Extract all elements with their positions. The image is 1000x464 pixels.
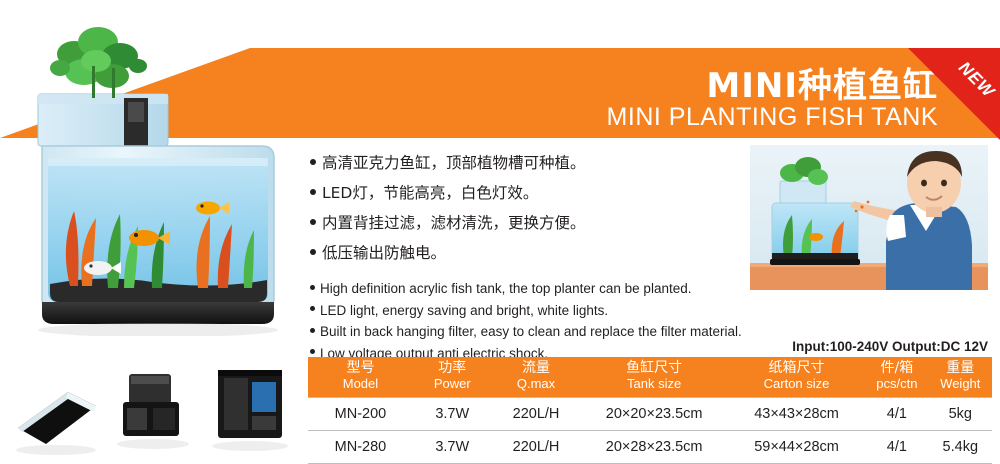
header-flow-cn: 流量 xyxy=(494,360,579,376)
header-weight: 重量 Weight xyxy=(929,357,992,398)
header-model-en: Model xyxy=(310,376,411,392)
header-carton-size-en: Carton size xyxy=(730,376,863,392)
header-model: 型号 Model xyxy=(308,357,413,398)
page-title-en: MINI PLANTING FISH TANK xyxy=(607,103,938,132)
feature-list: 高清亚克力鱼缸，顶部植物槽可种植。 LED灯，节能高亮，白色灯效。 内置背挂过滤… xyxy=(310,148,710,364)
bullet-icon xyxy=(310,285,315,290)
bullet-icon xyxy=(310,328,315,333)
table-body: MN-200 3.7W 220L/H 20×20×23.5cm 43×43×28… xyxy=(308,398,992,464)
table-row: MN-280 3.7W 220L/H 20×28×23.5cm 59×44×28… xyxy=(308,431,992,464)
bullet-icon xyxy=(310,189,316,195)
bullet-icon xyxy=(310,306,315,311)
header-weight-en: Weight xyxy=(931,376,990,392)
header-tank-size: 鱼缸尺寸 Tank size xyxy=(580,357,728,398)
cell-weight: 5kg xyxy=(929,398,992,431)
feature-cn-3-text: 内置背挂过滤，滤材清洗，更换方便。 xyxy=(322,214,586,232)
feature-en-1-text: High definition acrylic fish tank, the t… xyxy=(320,281,691,296)
table-header: 型号 Model 功率 Power 流量 Q.max 鱼缸尺寸 Tank siz… xyxy=(308,357,992,398)
header-pcs-ctn-cn: 件/箱 xyxy=(867,360,926,376)
header-flow-en: Q.max xyxy=(494,376,579,392)
feature-cn-4: 低压输出防触电。 xyxy=(310,238,710,268)
feature-en-2-text: LED light, energy saving and bright, whi… xyxy=(320,303,608,318)
feature-cn-2: LED灯，节能高亮，白色灯效。 xyxy=(310,178,710,208)
specification-table: 型号 Model 功率 Power 流量 Q.max 鱼缸尺寸 Tank siz… xyxy=(308,357,992,464)
feature-cn-4-text: 低压输出防触电。 xyxy=(322,244,446,262)
feature-cn-1-text: 高清亚克力鱼缸，顶部植物槽可种植。 xyxy=(322,154,586,172)
feature-en-3: Built in back hanging filter, easy to cl… xyxy=(310,321,710,343)
new-ribbon: NEW xyxy=(908,48,1000,140)
accessory-thumbnails xyxy=(6,358,306,458)
cell-model: MN-280 xyxy=(308,431,413,464)
header-power: 功率 Power xyxy=(413,357,492,398)
page-title-cn: MINI种植鱼缸 xyxy=(706,58,938,107)
main-fish-tank-photo xyxy=(12,6,302,336)
cell-power: 3.7W xyxy=(413,398,492,431)
cell-power: 3.7W xyxy=(413,431,492,464)
cell-model: MN-200 xyxy=(308,398,413,431)
cell-pcs-ctn: 4/1 xyxy=(865,398,928,431)
header-tank-size-en: Tank size xyxy=(582,376,726,392)
header-power-cn: 功率 xyxy=(415,360,490,376)
header-weight-cn: 重量 xyxy=(931,360,990,376)
header-carton-size-cn: 纸箱尺寸 xyxy=(730,360,863,376)
table-row: MN-200 3.7W 220L/H 20×20×23.5cm 43×43×28… xyxy=(308,398,992,431)
cell-tank-size: 20×20×23.5cm xyxy=(580,398,728,431)
feature-cn-3: 内置背挂过滤，滤材清洗，更换方便。 xyxy=(310,208,710,238)
header-pcs-ctn-en: pcs/ctn xyxy=(867,376,926,392)
thumbnail-acrylic-lid xyxy=(10,358,102,458)
bullet-icon xyxy=(310,249,316,255)
bullet-icon xyxy=(310,219,316,225)
feature-en-3-text: Built in back hanging filter, easy to cl… xyxy=(320,324,742,339)
feature-en-2: LED light, energy saving and bright, whi… xyxy=(310,300,710,322)
thumbnail-filter-sponge xyxy=(107,358,199,458)
header-model-cn: 型号 xyxy=(310,360,411,376)
header-pcs-ctn: 件/箱 pcs/ctn xyxy=(865,357,928,398)
header-tank-size-cn: 鱼缸尺寸 xyxy=(582,360,726,376)
cell-weight: 5.4kg xyxy=(929,431,992,464)
feature-cn-2-text: LED灯，节能高亮，白色灯效。 xyxy=(322,184,538,202)
cell-flow: 220L/H xyxy=(492,431,581,464)
header-flow: 流量 Q.max xyxy=(492,357,581,398)
cell-tank-size: 20×28×23.5cm xyxy=(580,431,728,464)
feature-en-1: High definition acrylic fish tank, the t… xyxy=(310,278,710,300)
boy-feeding-fish-photo xyxy=(750,145,988,290)
bullet-icon xyxy=(310,349,315,354)
header-power-en: Power xyxy=(415,376,490,392)
cell-carton-size: 59×44×28cm xyxy=(728,431,865,464)
voltage-spec: Input:100-240V Output:DC 12V xyxy=(792,339,988,354)
feature-cn-1: 高清亚克力鱼缸，顶部植物槽可种植。 xyxy=(310,148,710,178)
cell-pcs-ctn: 4/1 xyxy=(865,431,928,464)
header-carton-size: 纸箱尺寸 Carton size xyxy=(728,357,865,398)
bullet-icon xyxy=(310,159,316,165)
cell-flow: 220L/H xyxy=(492,398,581,431)
thumbnail-back-hanging-filter xyxy=(204,358,296,458)
table-header-row: 型号 Model 功率 Power 流量 Q.max 鱼缸尺寸 Tank siz… xyxy=(308,357,992,398)
cell-carton-size: 43×43×28cm xyxy=(728,398,865,431)
